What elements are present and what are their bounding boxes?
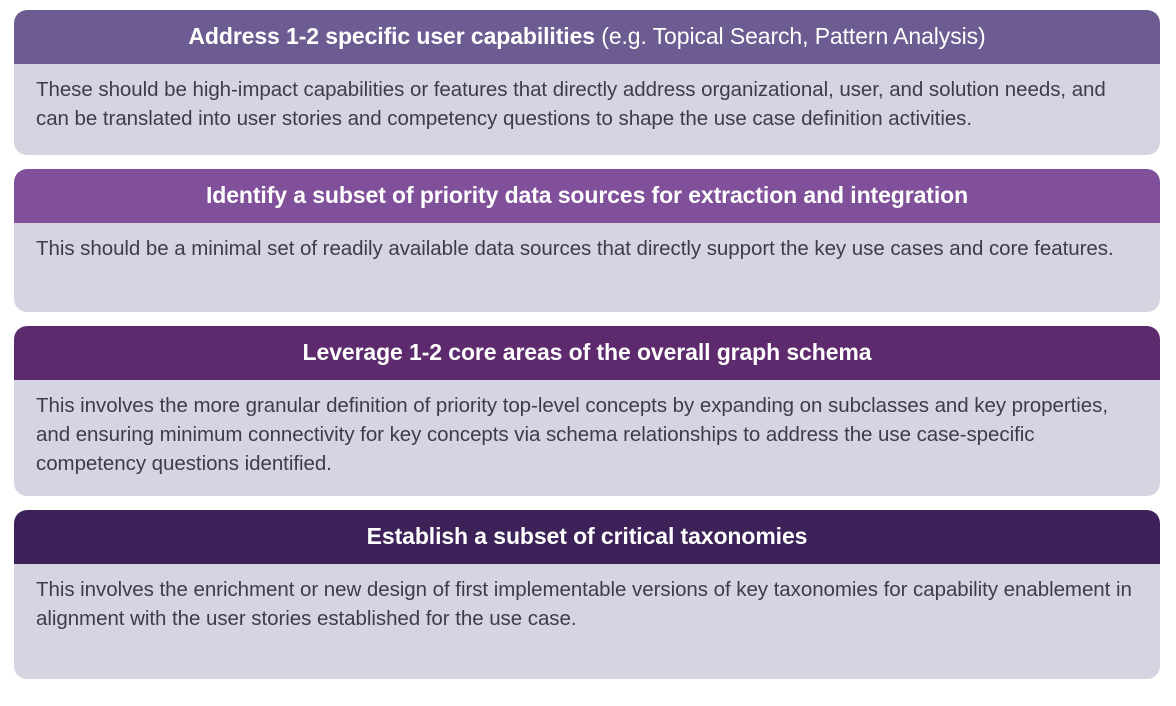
- guidance-card: Establish a subset of critical taxonomie…: [14, 510, 1160, 679]
- card-header: Address 1-2 specific user capabilities (…: [14, 10, 1160, 64]
- card-header-title: Leverage 1-2 core areas of the overall g…: [303, 339, 872, 365]
- card-body-text: These should be high-impact capabilities…: [14, 64, 1160, 155]
- card-header: Identify a subset of priority data sourc…: [14, 169, 1160, 223]
- card-body-text: This involves the enrichment or new desi…: [14, 564, 1160, 679]
- guidance-card-board: Address 1-2 specific user capabilities (…: [0, 0, 1176, 706]
- card-header-title: Identify a subset of priority data sourc…: [206, 182, 968, 208]
- guidance-card: Identify a subset of priority data sourc…: [14, 169, 1160, 311]
- guidance-card: Leverage 1-2 core areas of the overall g…: [14, 326, 1160, 496]
- guidance-card: Address 1-2 specific user capabilities (…: [14, 10, 1160, 155]
- card-header: Establish a subset of critical taxonomie…: [14, 510, 1160, 564]
- card-body-text: This involves the more granular definiti…: [14, 380, 1160, 496]
- card-header-title: Address 1-2 specific user capabilities: [188, 23, 595, 49]
- card-body-text: This should be a minimal set of readily …: [14, 223, 1160, 311]
- card-header: Leverage 1-2 core areas of the overall g…: [14, 326, 1160, 380]
- card-header-subtitle: (e.g. Topical Search, Pattern Analysis): [595, 23, 986, 49]
- card-header-title: Establish a subset of critical taxonomie…: [367, 523, 808, 549]
